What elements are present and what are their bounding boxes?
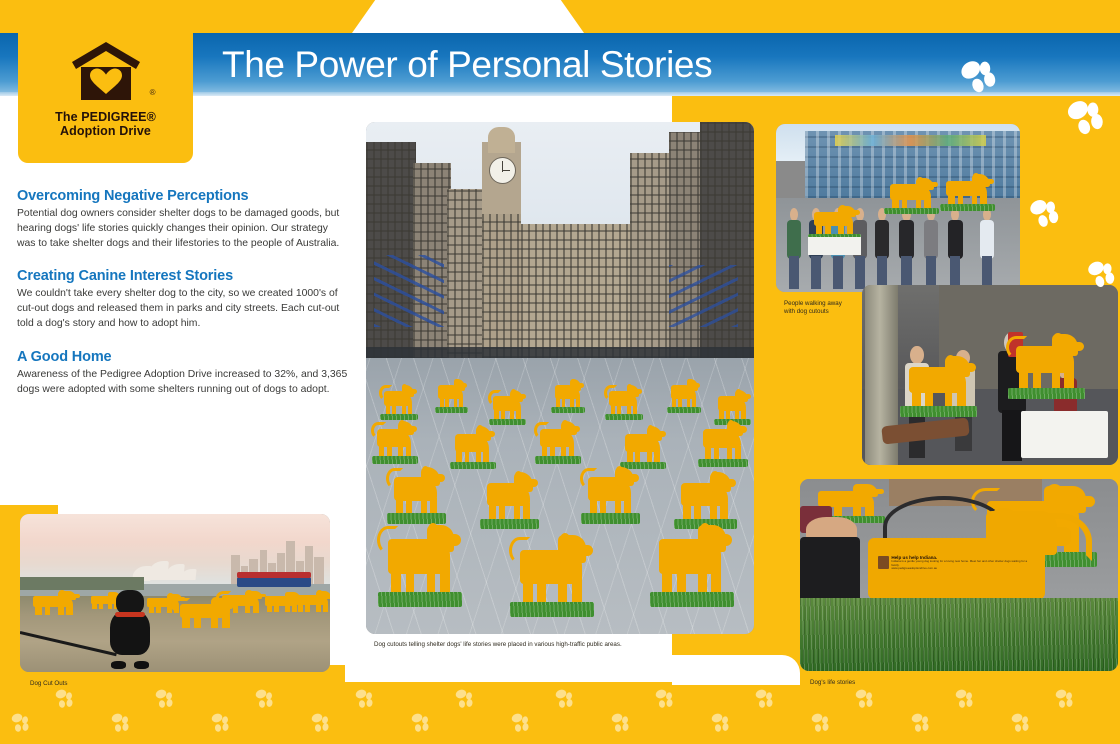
article-copy: Overcoming Negative Perceptions Potentia… (17, 188, 349, 414)
logo-text-line1: The PEDIGREE® (55, 110, 156, 124)
pedigree-adoption-drive-logo: ® The PEDIGREE® Adoption Drive (18, 15, 193, 163)
photo-family-with-cutouts (862, 285, 1118, 465)
poster-canvas: ® The PEDIGREE® Adoption Drive The Power… (0, 0, 1120, 744)
caption-bottom-left-photo: Dog Cut Outs (30, 680, 150, 688)
red-dog-collar (115, 612, 145, 618)
paw-print-icon (1081, 255, 1120, 292)
black-shelter-dog (104, 590, 157, 669)
paw-print-icon (0, 686, 1120, 744)
caption-line-1: People walking away (784, 300, 894, 308)
white-notch-right (672, 655, 800, 685)
photo-main-city-cutouts (366, 122, 754, 634)
photo-people-with-cutouts (776, 124, 1020, 292)
footer-paw-pattern (0, 686, 1120, 744)
white-top-notch (352, 0, 584, 33)
photo-child-in-cutout: Help us help Indiana. Indiana is a gentl… (800, 479, 1118, 671)
page-title: The Power of Personal Stories (222, 44, 712, 86)
section-heading-good-home: A Good Home (17, 349, 349, 365)
cutout-story-label: Help us help Indiana. Indiana is a gentl… (876, 548, 1031, 577)
section-body-good-home: Awareness of the Pedigree Adoption Drive… (17, 367, 349, 397)
dog-photo-thumbnail (878, 556, 889, 569)
section-heading-creating: Creating Canine Interest Stories (17, 268, 349, 284)
section-body-overcoming: Potential dog owners consider shelter do… (17, 206, 349, 251)
logo-text-line2: Adoption Drive (55, 124, 156, 138)
house-heart-icon: ® (66, 40, 146, 106)
photo-black-dog-sydney (20, 514, 330, 672)
caption-main-photo: Dog cutouts telling shelter dogs' life s… (374, 641, 704, 649)
section-body-creating: We couldn't take every shelter dog to th… (17, 286, 349, 331)
caption-bottom-right-photo: Dog's life stories (810, 679, 930, 687)
section-heading-overcoming: Overcoming Negative Perceptions (17, 188, 349, 204)
caption-top-right-photo: People walking away with dog cutouts (784, 300, 894, 316)
registered-mark: ® (150, 88, 156, 97)
caption-line-2: with dog cutouts (784, 308, 894, 316)
cutout-label-url: www.pedigreeadoptiondrive.com.au (891, 567, 1031, 570)
